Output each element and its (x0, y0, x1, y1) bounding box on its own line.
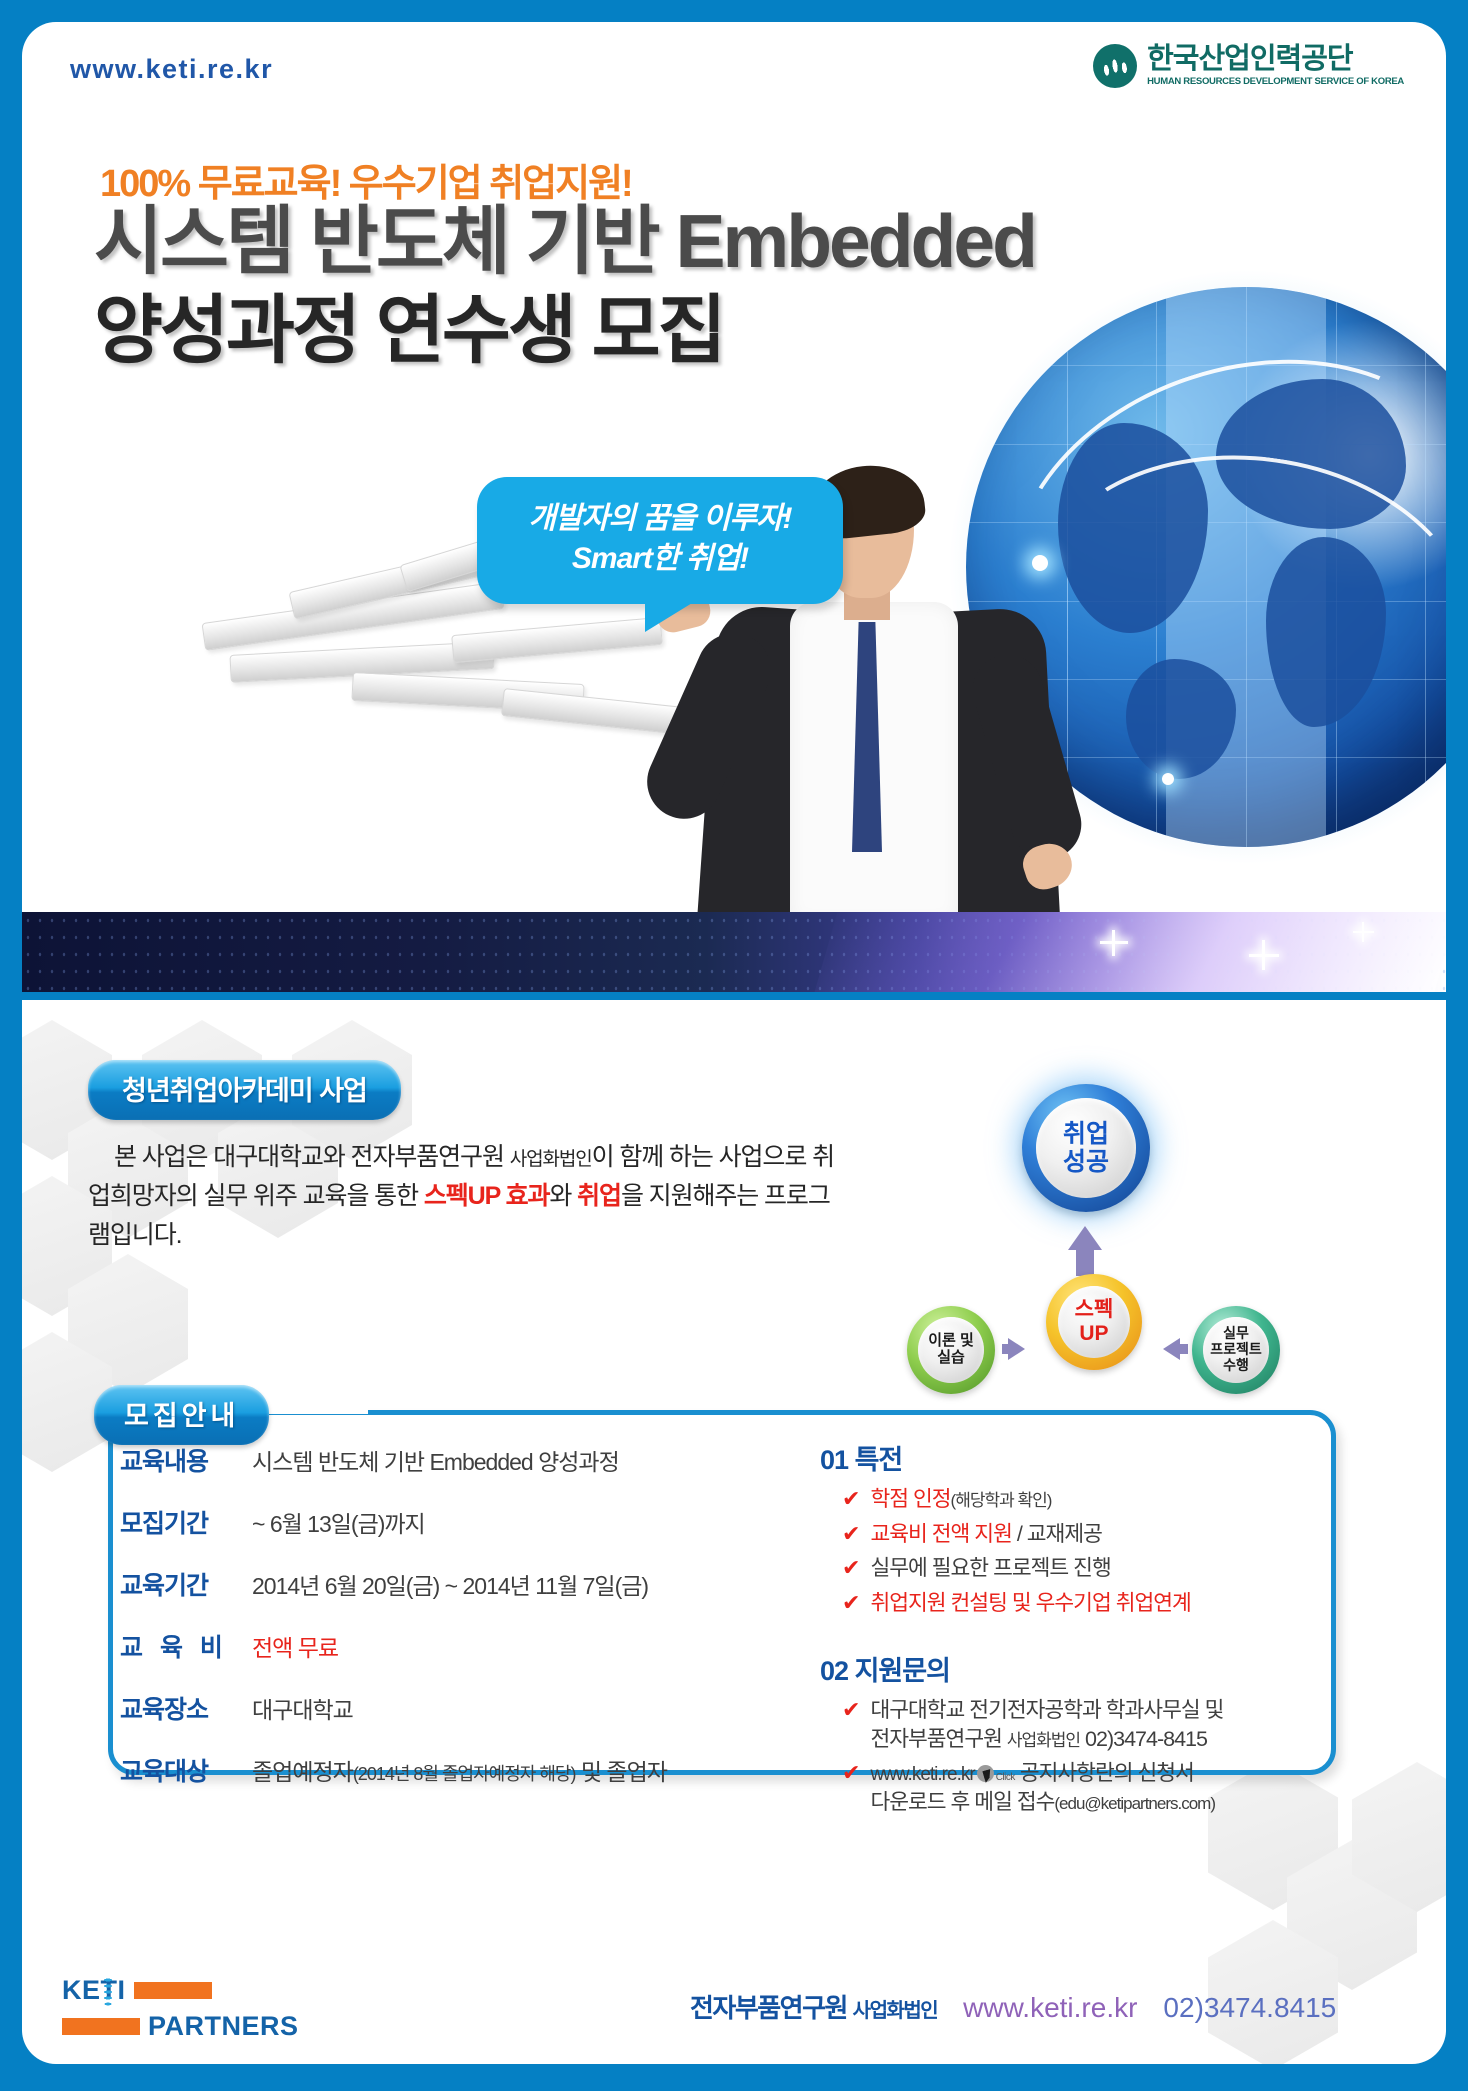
diagram-node-success: 취업 성공 (1022, 1084, 1150, 1212)
keti-partners-logo: KETI PARTNERS (62, 1975, 299, 2042)
intro-highlight-employment: 취업 (577, 1182, 621, 1210)
hrd-korea-logo-icon (1093, 44, 1137, 88)
row-value-eligibility: 졸업예정자(2014년 8월 졸업자예정자 해당) 및 졸업자 (252, 1753, 667, 1787)
intro-highlight-spec-up: 스펙UP 효과 (424, 1182, 550, 1210)
row-value-training-period: 2014년 6월 20일(금) ~ 2014년 11월 7일(금) (252, 1567, 648, 1601)
eligibility-note: (2014년 8월 졸업자예정자 해당) (353, 1764, 576, 1784)
diagram-spec-line1: 스펙 (1075, 1298, 1114, 1322)
keti-logo-text: KETI (62, 1975, 126, 2006)
diagram-node-spec-up: 스펙 UP (1046, 1274, 1142, 1370)
diagram-arrow-left-stem (1176, 1344, 1188, 1354)
partners-logo-text: PARTNERS (148, 2011, 299, 2042)
keti-logo-bar-bottom (62, 2018, 140, 2035)
diagram-node-theory: 이론 및 실습 (907, 1306, 995, 1394)
inquiry-email[interactable]: (edu@ketipartners.com) (1054, 1794, 1215, 1813)
header-website-url[interactable]: www.keti.re.kr (70, 54, 273, 85)
benefit-text-4: 취업지원 컨설팅 및 우수기업 취업연계 (870, 1589, 1190, 1617)
process-diagram: 취업 성공 스펙 UP 이론 및 실습 (910, 1090, 1310, 1390)
intro-text-part3: 와 (549, 1182, 577, 1210)
check-icon: ✔ (842, 1759, 859, 1788)
diagram-project-line1: 실무 (1210, 1326, 1262, 1342)
diagram-project-line3: 수행 (1210, 1358, 1262, 1374)
row-value-location: 대구대학교 (252, 1691, 353, 1725)
inquiry-url[interactable]: www.keti.re.kr (870, 1764, 974, 1785)
diagram-project-line2: 프로젝트 (1210, 1342, 1262, 1358)
list-item: ✔ 대구대학교 전기전자공학과 학과사무실 및 전자부품연구원 사업화법인 02… (842, 1696, 1340, 1753)
hrd-korea-name-en: HUMAN RESOURCES DEVELOPMENT SERVICE OF K… (1147, 77, 1404, 87)
eligibility-tail: 및 졸업자 (575, 1759, 666, 1785)
diagram-theory-line2: 실습 (928, 1350, 974, 1367)
table-row: 교육기간 2014년 6월 20일(금) ~ 2014년 11월 7일(금) (120, 1566, 760, 1602)
cursor-click-icon (977, 1765, 994, 1782)
footer-organization: 전자부품연구원 사업화법인 (690, 1988, 937, 2025)
footer-website-url[interactable]: www.keti.re.kr (963, 1992, 1137, 2024)
intro-text-part1: 본 사업은 대구대학교와 전자부품연구원 (114, 1143, 510, 1171)
diagram-spec-line2: UP (1075, 1322, 1114, 1346)
recruitment-detail-list: 교육내용 시스템 반도체 기반 Embedded 양성과정 모집기간 ~ 6월 … (120, 1442, 760, 1814)
inquiry-number: 02 (820, 1656, 848, 1686)
keti-logo-dots-icon (102, 1977, 115, 2007)
table-row: 교육내용 시스템 반도체 기반 Embedded 양성과정 (120, 1442, 760, 1478)
inquiry-section-title: 02 지원문의 (820, 1649, 1340, 1688)
hero-title-line1: 시스템 반도체 기반 Embedded (94, 199, 1035, 283)
recruitment-pill-heading: 모집안내 (94, 1385, 269, 1445)
click-label: Click (996, 1772, 1015, 1783)
benefit-text-1: 학점 인정(해당학과 확인) (870, 1485, 1051, 1513)
row-label-training-period: 교육기간 (120, 1566, 252, 1602)
row-label-location: 교육장소 (120, 1690, 252, 1726)
benefits-title: 특전 (855, 1445, 903, 1475)
diagram-arrow-up-icon (1068, 1226, 1102, 1250)
intro-pill-heading: 청년취업아카데미 사업 (88, 1060, 401, 1120)
row-value-application-period: ~ 6월 13일(금)까지 (252, 1505, 425, 1539)
check-icon: ✔ (842, 1520, 859, 1549)
diagram-arrow-right-stem (1002, 1344, 1014, 1354)
footer-telephone[interactable]: 02)3474.8415 (1163, 1992, 1336, 2024)
diagram-arrow-up-stem (1076, 1248, 1094, 1276)
row-label-tuition: 교 육 비 (120, 1628, 252, 1664)
benefit-text-3: 실무에 필요한 프로젝트 진행 (870, 1554, 1110, 1582)
hero-title-line2: 양성과정 연수생 모집 (94, 286, 1035, 375)
inquiry-download: www.keti.re.krClick 공지사항란의 신청서 다운로드 후 메일… (870, 1759, 1215, 1816)
intro-body-text: 본 사업은 대구대학교와 전자부품연구원 사업화법인이 함께 하는 사업으로 취… (88, 1138, 848, 1254)
inquiry-title: 지원문의 (855, 1656, 950, 1686)
check-icon: ✔ (842, 1485, 859, 1514)
keti-logo-bar-top (134, 1982, 212, 1999)
list-item: ✔ www.keti.re.krClick 공지사항란의 신청서 다운로드 후 … (842, 1759, 1340, 1816)
intro-section: 청년취업아카데미 사업 본 사업은 대구대학교와 전자부품연구원 사업화법인이 … (88, 1060, 848, 1254)
hero-panel: www.keti.re.kr 한국산업인력공단 HUMAN RESOURCES … (22, 22, 1446, 912)
poster-root: www.keti.re.kr 한국산업인력공단 HUMAN RESOURCES … (0, 0, 1468, 2091)
intro-text-small1: 사업화법인 (510, 1149, 592, 1170)
banner-light-sweep (805, 912, 1446, 992)
diagram-theory-line1: 이론 및 (928, 1333, 974, 1350)
row-label-application-period: 모집기간 (120, 1504, 252, 1540)
diagram-node-project: 실무 프로젝트 수행 (1192, 1306, 1280, 1394)
check-icon: ✔ (842, 1589, 859, 1618)
list-item: ✔ 학점 인정(해당학과 확인) (842, 1485, 1340, 1514)
inquiry-contact: 대구대학교 전기전자공학과 학과사무실 및 전자부품연구원 사업화법인 02)3… (870, 1696, 1223, 1753)
eligibility-main: 졸업예정자 (252, 1759, 353, 1785)
check-icon: ✔ (842, 1696, 859, 1725)
benefits-and-inquiry: 01 특전 ✔ 학점 인정(해당학과 확인) ✔ 교육비 전액 지원 / 교재제… (820, 1438, 1340, 1822)
speech-bubble-line1: 개발자의 꿈을 이루자! (495, 499, 825, 539)
list-item: ✔ 취업지원 컨설팅 및 우수기업 취업연계 (842, 1589, 1340, 1618)
hrd-korea-name-ko: 한국산업인력공단 (1147, 45, 1404, 74)
footer-contact: 전자부품연구원 사업화법인 www.keti.re.kr 02)3474.841… (690, 1988, 1336, 2025)
diagram-success-line1: 취업 (1063, 1120, 1109, 1148)
hero-title: 시스템 반도체 기반 Embedded 양성과정 연수생 모집 (94, 197, 1035, 374)
benefit-text-2: 교육비 전액 지원 / 교재제공 (870, 1520, 1101, 1548)
speech-bubble-line2: Smart한 취업! (495, 539, 825, 579)
table-row: 교 육 비 전액 무료 (120, 1628, 760, 1664)
row-label-course-content: 교육내용 (120, 1442, 252, 1478)
benefits-section-title: 01 특전 (820, 1438, 1340, 1477)
list-item: ✔ 실무에 필요한 프로젝트 진행 (842, 1554, 1340, 1583)
check-icon: ✔ (842, 1554, 859, 1583)
table-row: 모집기간 ~ 6월 13일(금)까지 (120, 1504, 760, 1540)
hrd-korea-logo-text: 한국산업인력공단 HUMAN RESOURCES DEVELOPMENT SER… (1147, 45, 1404, 87)
row-value-course-content: 시스템 반도체 기반 Embedded 양성과정 (252, 1443, 619, 1477)
diagram-success-line2: 성공 (1063, 1148, 1109, 1176)
row-label-eligibility: 교육대상 (120, 1752, 252, 1788)
table-row: 교육대상 졸업예정자(2014년 8월 졸업자예정자 해당) 및 졸업자 (120, 1752, 760, 1788)
benefits-number: 01 (820, 1445, 848, 1475)
list-item: ✔ 교육비 전액 지원 / 교재제공 (842, 1520, 1340, 1549)
hrd-korea-logo: 한국산업인력공단 HUMAN RESOURCES DEVELOPMENT SER… (1093, 44, 1404, 88)
row-value-tuition: 전액 무료 (252, 1629, 338, 1663)
decorative-banner-strip (22, 912, 1446, 992)
table-row: 교육장소 대구대학교 (120, 1690, 760, 1726)
speech-bubble: 개발자의 꿈을 이루자! Smart한 취업! (477, 477, 843, 604)
